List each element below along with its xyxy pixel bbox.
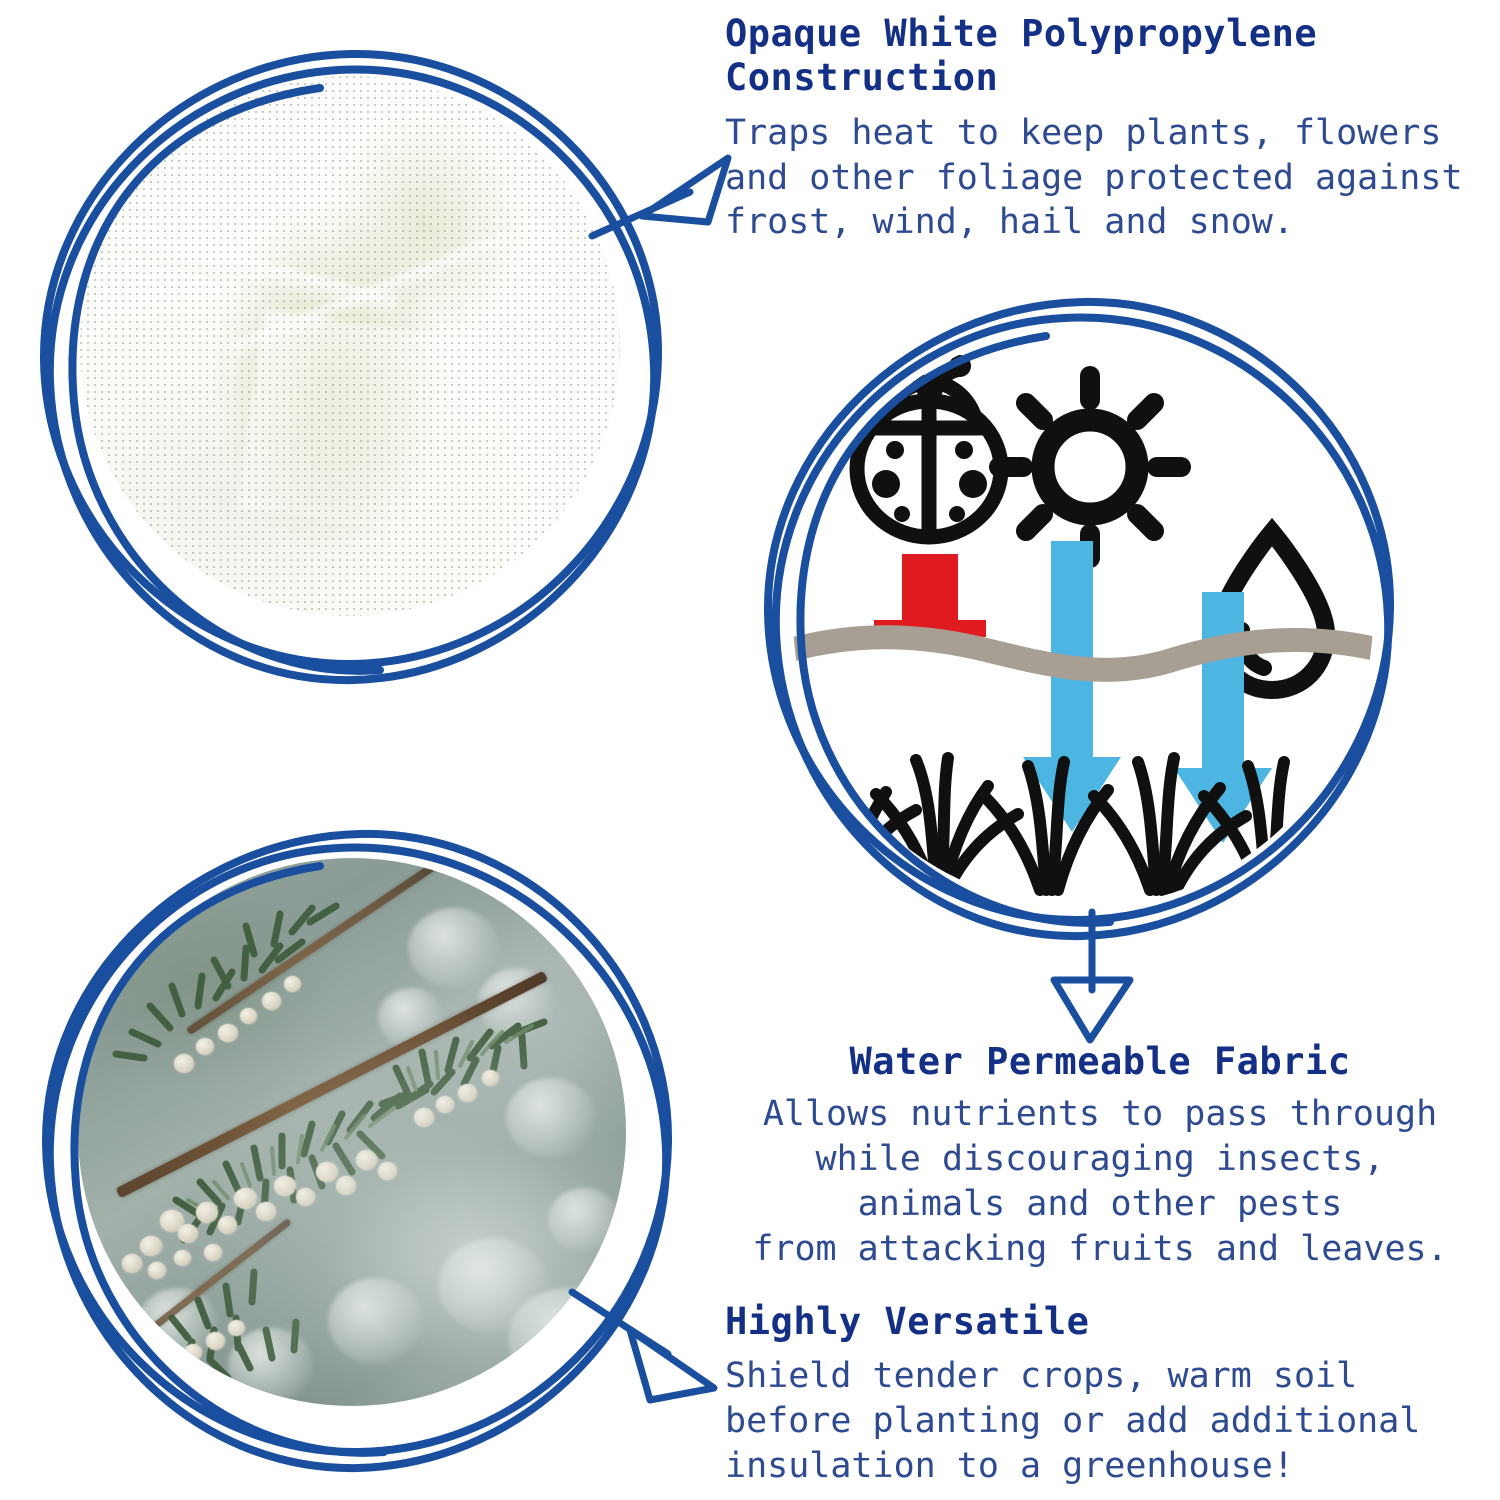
feature-text-opaque-white: Opaque White Polypropylene Construction … — [725, 12, 1495, 245]
sun-icon — [999, 376, 1181, 558]
feature-body-water-permeable: Allows nutrients to pass through while d… — [700, 1092, 1500, 1271]
feature-body-opaque-white: Traps heat to keep plants, flowers and o… — [725, 111, 1495, 245]
fabric-photo-image — [80, 76, 620, 616]
infographic-canvas: Opaque White Polypropylene Construction … — [0, 0, 1500, 1500]
photo-frosted-heather — [16, 800, 706, 1500]
feature-heading-water-permeable: Water Permeable Fabric — [700, 1040, 1500, 1084]
heather-photo-image — [78, 858, 626, 1406]
ladybug-icon — [857, 355, 1001, 537]
connector-diagram-to-text — [1030, 908, 1160, 1048]
feature-heading-highly-versatile: Highly Versatile — [725, 1300, 1495, 1344]
diagram-illustration — [790, 324, 1376, 910]
diagram-water-permeable — [738, 268, 1418, 968]
blocked-symbol-icon — [874, 554, 986, 637]
feature-body-highly-versatile: Shield tender crops, warm soil before pl… — [725, 1354, 1495, 1488]
feature-text-highly-versatile: Highly Versatile Shield tender crops, wa… — [725, 1300, 1495, 1489]
feature-text-water-permeable: Water Permeable Fabric Allows nutrients … — [700, 1040, 1500, 1272]
photo-fabric-closeup — [20, 18, 680, 718]
feature-heading-opaque-white: Opaque White Polypropylene Construction — [725, 12, 1495, 101]
